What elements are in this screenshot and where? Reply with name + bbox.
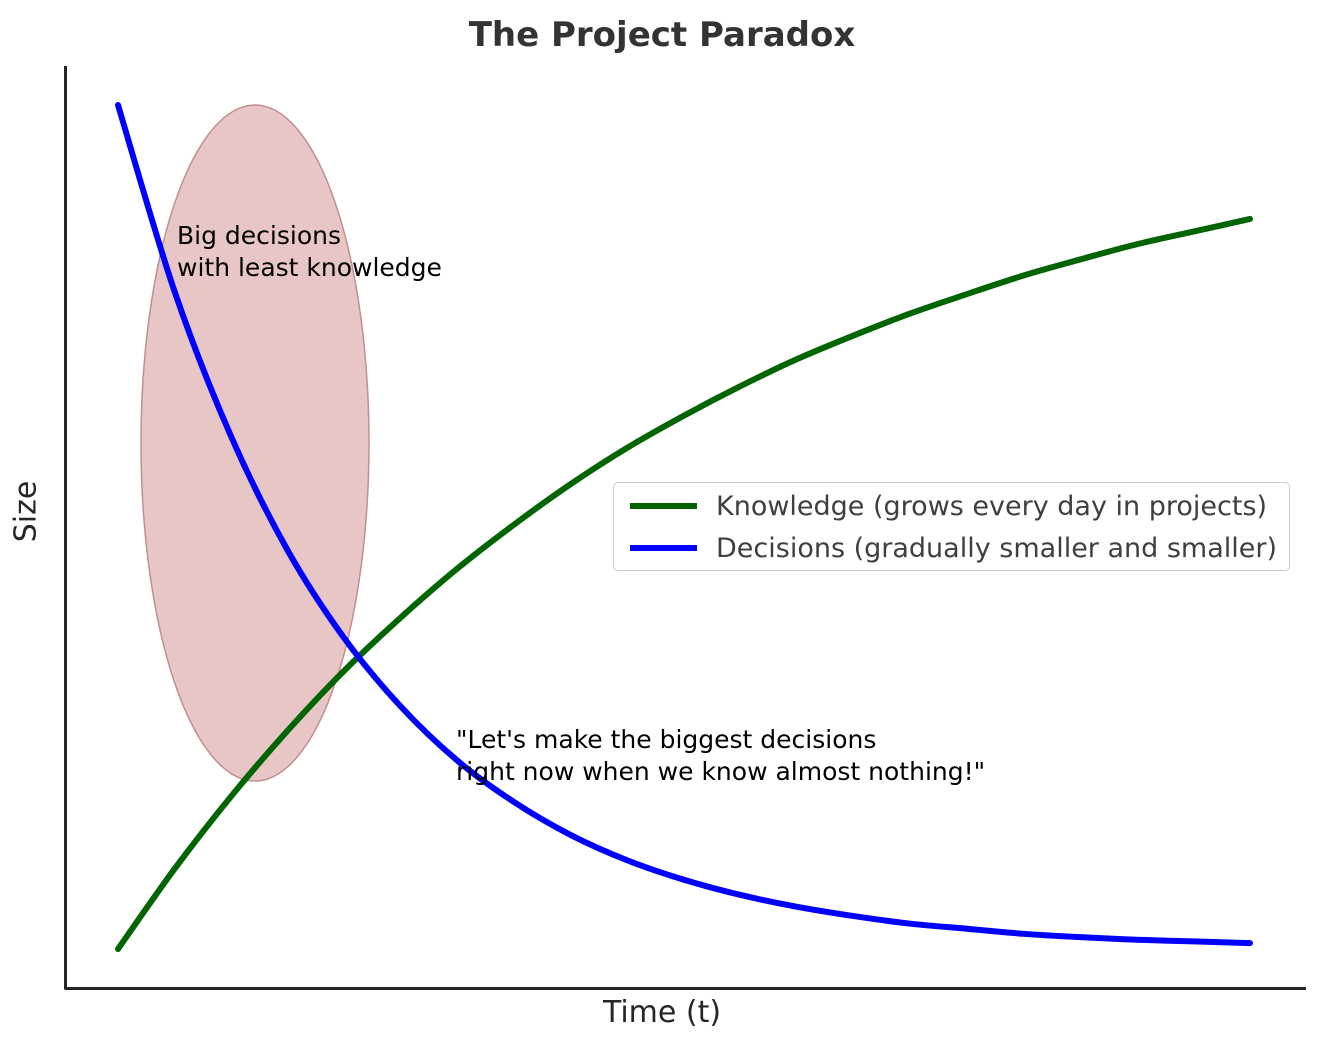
legend-item-knowledge[interactable]: Knowledge (grows every day in projects) — [614, 484, 1267, 528]
legend-label-decisions: Decisions (gradually smaller and smaller… — [716, 533, 1277, 564]
legend-swatch-decisions — [630, 545, 697, 551]
legend-swatch-knowledge — [630, 503, 697, 509]
y-axis-label: Size — [9, 442, 44, 582]
legend-item-decisions[interactable]: Decisions (gradually smaller and smaller… — [614, 526, 1277, 570]
legend-label-knowledge: Knowledge (grows every day in projects) — [716, 491, 1267, 522]
annotation-big-decisions: Big decisions with least knowledge — [177, 220, 442, 284]
annotation-quote: "Let's make the biggest decisions right … — [456, 724, 985, 788]
chart-figure: The Project Paradox Big decisions with l… — [0, 0, 1324, 1054]
x-axis-label: Time (t) — [0, 995, 1324, 1030]
chart-legend: Knowledge (grows every day in projects) … — [613, 482, 1290, 571]
